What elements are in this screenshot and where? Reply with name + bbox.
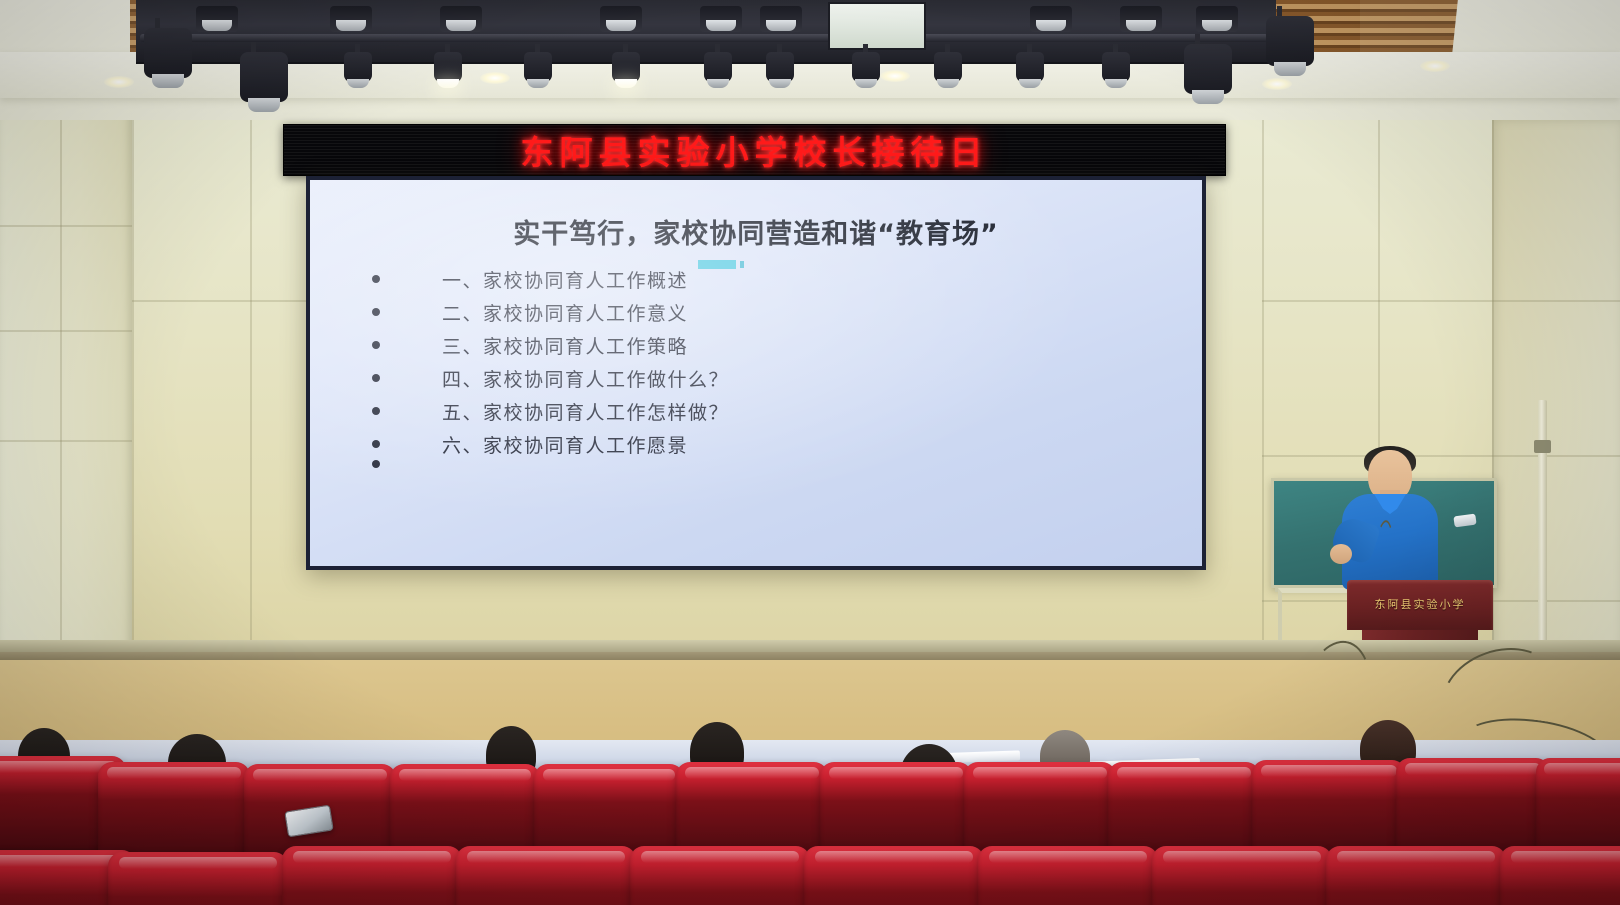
bullet-dot-icon bbox=[372, 440, 380, 448]
list-item: 二、家校协同育人工作意义 bbox=[372, 299, 1172, 332]
bullet-dot-icon bbox=[372, 374, 380, 382]
led-banner-text: 东阿县实验小学校长接待日 bbox=[521, 126, 989, 174]
truss-fixture bbox=[196, 6, 238, 32]
stage-spotlight bbox=[930, 44, 966, 94]
wall-seam bbox=[1262, 300, 1620, 302]
truss-fixture bbox=[700, 6, 742, 32]
seat bbox=[1152, 846, 1332, 905]
bullet-text: 二、家校协同育人工作意义 bbox=[442, 299, 688, 326]
conduit-clamp bbox=[1534, 440, 1551, 453]
truss-control-panel bbox=[828, 2, 926, 50]
slide-highlight-mark bbox=[698, 260, 736, 269]
auditorium-photo: 东阿县实验小学校长接待日 实干笃行，家校协同营造和谐“教育场” 一、家校协同育人… bbox=[0, 0, 1620, 905]
stage-spotlight bbox=[700, 44, 736, 94]
stage-spotlight bbox=[848, 44, 884, 94]
slide-bullet-list: 一、家校协同育人工作概述 二、家校协同育人工作意义 三、家校协同育人工作策略 四… bbox=[372, 266, 1172, 497]
downlight bbox=[880, 70, 910, 82]
seat bbox=[108, 852, 288, 905]
truss-fixture bbox=[330, 6, 372, 32]
slide-title: 实干笃行，家校协同营造和谐“教育场” bbox=[310, 212, 1202, 251]
bullet-text: 四、家校协同育人工作做什么？ bbox=[442, 365, 729, 392]
seat bbox=[1326, 846, 1506, 905]
stage-spotlight bbox=[1262, 6, 1318, 84]
bullet-dot-icon bbox=[372, 460, 380, 468]
stage-spotlight bbox=[430, 44, 466, 94]
downlight bbox=[480, 72, 510, 84]
wall-seam bbox=[250, 98, 252, 643]
truss-bar bbox=[140, 34, 1268, 42]
bullet-text: 六、家校协同育人工作愿景 bbox=[442, 431, 688, 458]
seat bbox=[978, 846, 1158, 905]
left-wall bbox=[0, 78, 132, 718]
seat bbox=[1536, 758, 1620, 858]
projection-screen-frame: 实干笃行，家校协同营造和谐“教育场” 一、家校协同育人工作概述 二、家校协同育人… bbox=[306, 176, 1206, 570]
wall-seam bbox=[0, 440, 132, 442]
bullet-dot-icon bbox=[372, 407, 380, 415]
bullet-dot-icon bbox=[372, 275, 380, 283]
downlight bbox=[1420, 60, 1450, 72]
truss-fixture bbox=[760, 6, 802, 32]
stage-spotlight bbox=[1012, 44, 1048, 94]
seat bbox=[1396, 758, 1550, 858]
seat bbox=[804, 846, 984, 905]
bullet-text: 三、家校协同育人工作策略 bbox=[442, 332, 688, 359]
truss-fixture bbox=[1196, 6, 1238, 32]
bullet-dot-icon bbox=[372, 308, 380, 316]
list-item: 一、家校协同育人工作概述 bbox=[372, 266, 1172, 299]
stage-spotlight bbox=[520, 44, 556, 94]
seat bbox=[456, 846, 636, 905]
list-item: 五、家校协同育人工作怎样做？ bbox=[372, 398, 1172, 431]
seat bbox=[282, 846, 462, 905]
stage-spotlight bbox=[1180, 34, 1236, 112]
speaker-hand bbox=[1330, 544, 1352, 564]
stage-spotlight bbox=[762, 44, 798, 94]
stage-spotlight bbox=[340, 44, 376, 94]
wall-seam bbox=[132, 80, 134, 645]
wall-seam bbox=[1378, 104, 1380, 464]
list-item: 四、家校协同育人工作做什么？ bbox=[372, 365, 1172, 398]
seat bbox=[1500, 846, 1620, 905]
bullet-dot-icon bbox=[372, 341, 380, 349]
truss-fixture bbox=[440, 6, 482, 32]
list-item: 六、家校协同育人工作愿景 bbox=[372, 431, 1172, 464]
truss-fixture bbox=[1120, 6, 1162, 32]
wall-seam bbox=[1262, 104, 1264, 644]
projection-screen: 实干笃行，家校协同营造和谐“教育场” 一、家校协同育人工作概述 二、家校协同育人… bbox=[310, 180, 1202, 566]
downlight bbox=[104, 76, 134, 88]
bullet-text: 一、家校协同育人工作概述 bbox=[442, 266, 688, 293]
stage-spotlight bbox=[140, 18, 196, 96]
wall-seam bbox=[0, 330, 132, 332]
chalkboard-eraser bbox=[1453, 514, 1476, 528]
bullet-text: 五、家校协同育人工作怎样做？ bbox=[442, 398, 729, 425]
truss-fixture bbox=[600, 6, 642, 32]
seat bbox=[630, 846, 810, 905]
seat bbox=[98, 762, 250, 858]
wall-seam bbox=[132, 300, 307, 302]
wall-seam bbox=[0, 225, 132, 227]
stage-spotlight bbox=[236, 42, 292, 120]
wall-seam bbox=[60, 96, 62, 644]
stage-spotlight bbox=[1098, 44, 1134, 94]
list-item: 三、家校协同育人工作策略 bbox=[372, 332, 1172, 365]
stage-spotlight bbox=[608, 44, 644, 94]
truss-fixture bbox=[1030, 6, 1072, 32]
seat bbox=[1252, 760, 1406, 860]
led-banner: 东阿县实验小学校长接待日 bbox=[283, 124, 1226, 176]
list-item bbox=[372, 464, 1172, 497]
audience-seating bbox=[0, 700, 1620, 905]
